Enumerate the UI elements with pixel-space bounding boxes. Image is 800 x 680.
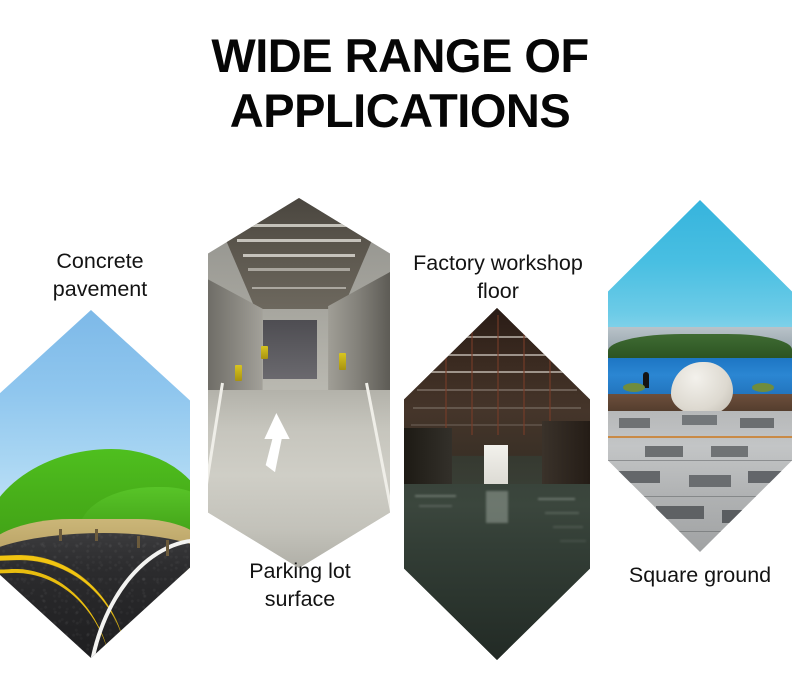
floor-reflection [419,505,452,507]
page-title-line-2: APPLICATIONS [0,83,800,138]
ceiling-pipe [252,287,347,289]
paver-tile [689,475,731,487]
sky-layer [608,200,792,341]
boulder-sculpture [671,362,734,415]
paver-tile [619,418,650,428]
caption-factory-workshop-floor: Factory workshop floor [398,250,598,305]
garage-epoxy-floor [208,390,390,568]
floor-reflection [553,526,583,528]
scene-public-square [608,200,792,552]
caption-parking-lot-surface: Parking lot surface [205,558,395,613]
paver-tile [656,506,704,519]
paver-tile [711,446,748,457]
paver-tile [722,510,766,523]
floor-reflection [560,540,586,542]
ceiling-beam [232,224,367,227]
caption-parking-lot-surface-line-2: surface [205,586,395,614]
caption-square-ground-line-1: Square ground [600,562,800,590]
column-guard [235,365,242,381]
card-concrete-pavement[interactable] [0,310,190,658]
caption-concrete-pavement-line-2: pavement [0,276,200,304]
roof-purlin [523,322,525,435]
ceiling-beam [243,254,356,257]
floor-reflection [415,495,456,497]
caption-factory-workshop-floor-line-1: Factory workshop [398,250,598,278]
paver-joint [608,531,792,532]
roof-purlin [445,329,447,435]
orange-accent-line [608,436,792,438]
ceiling-beam [237,239,361,242]
planter-bush [623,383,645,392]
column-guard [261,346,268,359]
column-guard [339,353,346,370]
scene-concrete-pavement [0,310,190,658]
roof-purlin [549,329,551,435]
floor-reflection [486,491,508,523]
roadside-post [59,529,62,541]
scene-parking-garage [208,198,390,568]
roadside-post [166,540,169,556]
paver-joint [608,496,792,497]
roof-purlin [471,322,473,435]
caption-square-ground: Square ground [600,562,800,590]
hex-frame-square-ground [608,200,792,552]
caption-concrete-pavement: Concrete pavement [0,248,200,303]
roadside-post [137,536,140,548]
hex-frame-parking-lot-surface [208,198,390,568]
scene-factory-workshop [404,308,590,660]
garage-far-wall [263,320,318,379]
directional-arrow-icon [255,413,295,472]
planter-bush [752,383,774,392]
page-title-line-1: WIDE RANGE OF [0,28,800,83]
caption-concrete-pavement-line-1: Concrete [0,248,200,276]
floor-reflection [538,498,575,500]
card-square-ground[interactable] [608,200,792,552]
card-parking-lot-surface[interactable] [208,198,390,568]
floor-reflection [545,512,578,514]
caption-factory-workshop-floor-line-2: floor [398,278,598,306]
paver-joint [608,460,792,461]
paver-tile [645,446,684,457]
page-title: WIDE RANGE OF APPLICATIONS [0,28,800,139]
hex-frame-factory-workshop-floor [404,308,590,660]
caption-parking-lot-surface-line-1: Parking lot [205,558,395,586]
hex-frame-concrete-pavement [0,310,190,658]
ceiling-beam [248,268,350,271]
paver-tile [740,418,773,428]
card-factory-workshop-floor[interactable] [404,308,590,660]
roadside-post [95,529,98,541]
paver-tile [748,471,788,483]
paver-tile [682,415,717,425]
roof-purlin [497,315,499,435]
paver-tile [615,471,659,483]
